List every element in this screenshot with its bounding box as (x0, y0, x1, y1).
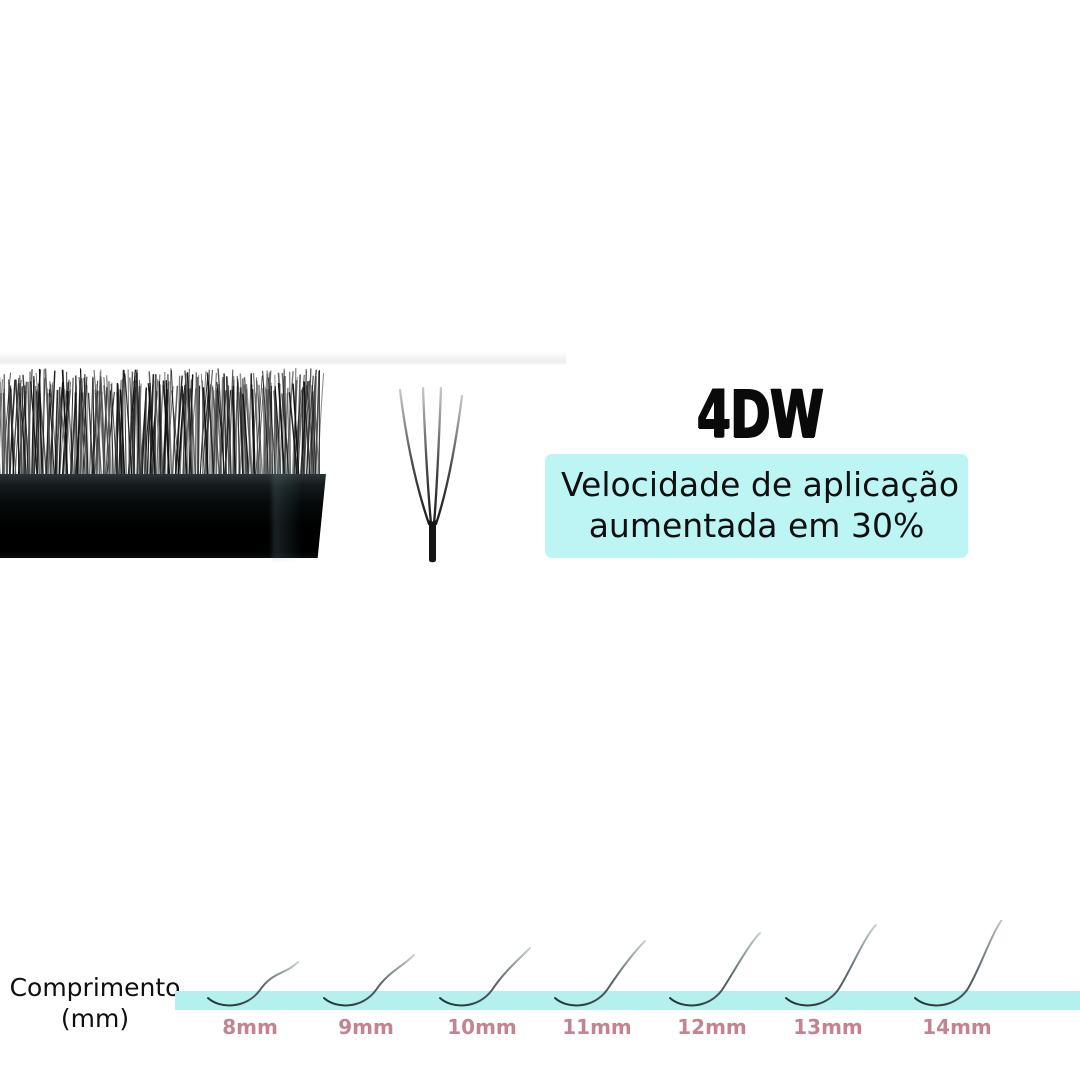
fan-base-stem (429, 520, 436, 562)
lash-curve (208, 962, 298, 1005)
fan-svg (372, 374, 522, 568)
ruler-axis-label-line-1: Comprimento (6, 972, 184, 1003)
lash-curve (786, 925, 876, 1005)
product-infographic: 4DW Velocidade de aplicação aumentada em… (0, 0, 1080, 1080)
callout-line-2: aumentada em 30% (561, 505, 952, 546)
lash-curve (440, 948, 530, 1005)
tray-fiber (302, 387, 303, 480)
lash-curve (670, 933, 760, 1005)
lash-curve (915, 920, 1005, 1005)
ruler-tick-label-14: 14mm (902, 1015, 1012, 1039)
ruler-tick-label-9: 9mm (311, 1015, 421, 1039)
ruler-axis-label-line-2: (mm) (6, 1003, 184, 1034)
ruler-tick-label-13: 13mm (773, 1015, 883, 1039)
tray-fiber (236, 386, 237, 480)
speed-callout-badge: Velocidade de aplicação aumentada em 30% (545, 454, 968, 558)
page-title: 4DW (601, 380, 919, 450)
length-ruler: Comprimento (mm) 8mm9mm10mm11mm12mm13mm1… (0, 920, 1080, 1050)
headline-block: 4DW Velocidade de aplicação aumentada em… (545, 380, 975, 558)
ruler-tick-label-11: 11mm (542, 1015, 652, 1039)
tray-fiber (196, 372, 197, 480)
lash-curve (555, 941, 645, 1005)
callout-line-1: Velocidade de aplicação (561, 464, 952, 505)
tray-fiber (146, 390, 147, 480)
ruler-tick-label-12: 12mm (657, 1015, 767, 1039)
ruler-axis-label: Comprimento (mm) (6, 972, 184, 1034)
ruler-lash-curves (175, 920, 1080, 1012)
lash-curve (324, 955, 414, 1005)
ruler-tick-label-10: 10mm (427, 1015, 537, 1039)
lash-tray-photo (0, 362, 326, 568)
4d-lash-fan-icon (372, 374, 522, 568)
lash-tray-shadow (272, 462, 302, 560)
ruler-tick-label-8: 8mm (195, 1015, 305, 1039)
